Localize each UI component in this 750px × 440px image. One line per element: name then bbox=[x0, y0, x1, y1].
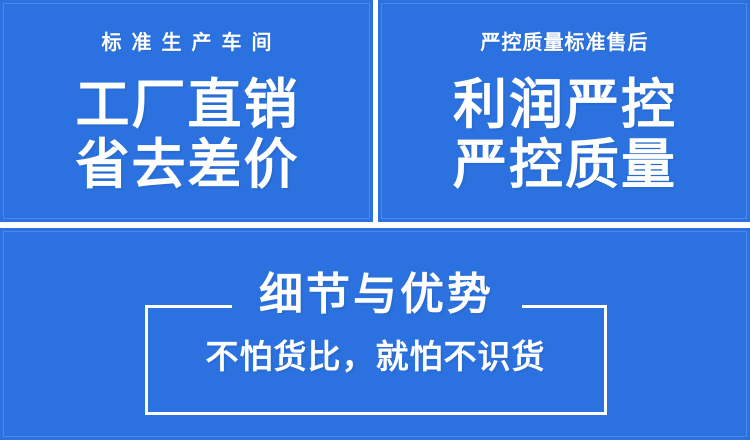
panel-left-content: 标准生产车间 工厂直销 省去差价 bbox=[0, 0, 373, 222]
left-eyebrow-text: 标准生产车间 bbox=[92, 33, 282, 53]
right-headline-line-1: 利润严控 bbox=[451, 75, 677, 135]
right-eyebrow-text: 严控质量标准售后 bbox=[480, 33, 649, 53]
left-headline-line-1: 工厂直销 bbox=[74, 75, 300, 135]
panel-right-content: 严控质量标准售后 利润严控 严控质量 bbox=[378, 0, 750, 222]
promo-banner: 标准生产车间 工厂直销 省去差价 严控质量标准售后 利润严控 严控质量 细节与优… bbox=[0, 0, 750, 440]
bottom-subtitle-text: 不怕货比，就怕不识货 bbox=[0, 340, 750, 373]
bottom-title-text: 细节与优势 bbox=[0, 273, 750, 317]
panel-details-advantages: 细节与优势 不怕货比，就怕不识货 bbox=[0, 228, 750, 440]
right-headline-line-2: 严控质量 bbox=[451, 135, 677, 195]
panel-quality-control: 严控质量标准售后 利润严控 严控质量 bbox=[378, 0, 750, 222]
panel-factory-direct: 标准生产车间 工厂直销 省去差价 bbox=[0, 0, 373, 222]
left-headline-line-2: 省去差价 bbox=[74, 135, 300, 195]
